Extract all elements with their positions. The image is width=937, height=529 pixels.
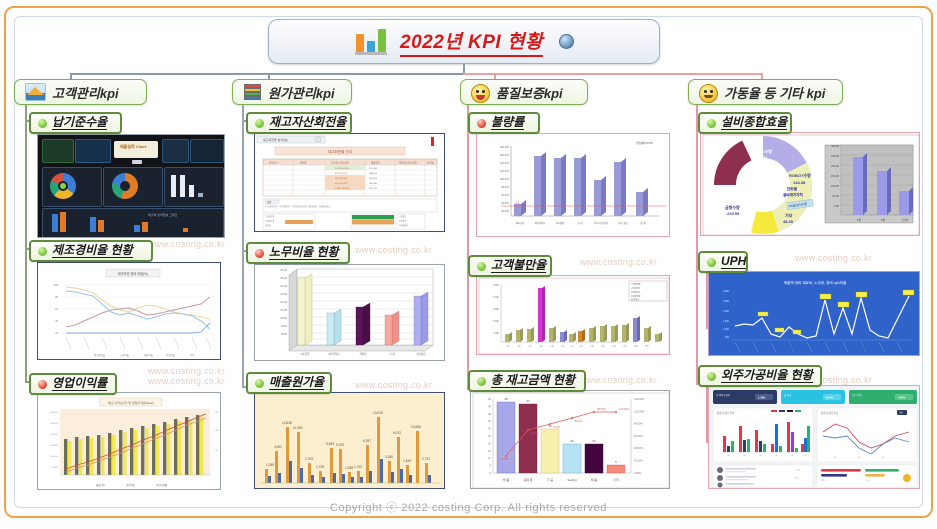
- svg-text:외주가공비 비교: 외주가공비 비교: [821, 411, 839, 415]
- svg-text:60.00%: 60.00%: [634, 434, 643, 438]
- thumbnail-cogs-ratio[interactable]: 1,259 4,902 12,836 11,050 2,709 1,739 5,…: [254, 392, 445, 489]
- svg-text:기초재고자산금액: 기초재고자산금액: [331, 161, 349, 165]
- watermark: www.costing.co.kr: [148, 376, 225, 386]
- svg-text:매출원가: 매출원가: [371, 161, 381, 165]
- svg-text:80.00: 80.00: [281, 316, 288, 320]
- svg-text:총 외주가공비: 총 외주가공비: [716, 393, 730, 397]
- svg-text:1,000: 1,000: [493, 332, 500, 335]
- watermark: www.costing.co.kr: [148, 366, 225, 376]
- green-bullet-icon: [38, 247, 47, 256]
- watermark: www.costing.co.kr: [795, 253, 872, 263]
- node-label: 외주가공비율 현황: [721, 369, 813, 383]
- svg-text:120.00%: 120.00%: [634, 397, 645, 401]
- svg-text:원자재: 원자재: [524, 477, 533, 482]
- svg-text:100.00%: 100.00%: [634, 409, 645, 413]
- node-inventory-turnover[interactable]: 재고자산회전율: [246, 112, 352, 134]
- svg-text:0.00: 0.00: [834, 204, 840, 208]
- svg-text:전 월: 전 월: [902, 218, 908, 222]
- svg-text:20: 20: [570, 439, 574, 443]
- line-chart: 매출액 대비 재료비, 노무비, 경비 uph비율 3,0002,5002,00…: [709, 272, 920, 356]
- svg-text:3,000: 3,000: [493, 308, 500, 311]
- svg-text:2022: 2022: [881, 457, 885, 459]
- svg-text:+67%: +67%: [898, 396, 906, 400]
- svg-text:6,397: 6,397: [363, 439, 371, 443]
- svg-text:2021: 2021: [857, 457, 861, 459]
- page-title-text: 2022년 KPI 현황: [400, 27, 543, 57]
- svg-text:사내 생산: 사내 생산: [618, 221, 629, 225]
- thumbnail-labor-ratio[interactable]: 86.0085.0084.00 83.0082.0081.00 80.0079.…: [254, 264, 445, 361]
- svg-text:1차협력사: 1차협력사: [535, 221, 546, 225]
- svg-text:987,654,321: 987,654,321: [335, 173, 348, 175]
- thumbnail-defect-rate[interactable]: 불량률(PPM) 180,000160,000140,000 120,00010…: [476, 133, 670, 237]
- svg-text:265,440: 265,440: [369, 183, 378, 185]
- svg-text:150.00: 150.00: [831, 174, 839, 178]
- svg-text:1,500: 1,500: [723, 320, 730, 323]
- svg-text:144.38: 144.38: [793, 180, 806, 185]
- svg-text:250.00: 250.00: [831, 154, 839, 158]
- svg-text:4,000: 4,000: [493, 296, 500, 299]
- svg-text:100.00: 100.00: [831, 184, 839, 188]
- line-chart: 제조부문 경비 현황(%) 10080 6040 20: [38, 263, 221, 360]
- svg-text:제조부문 경비 현황(%): 제조부문 경비 현황(%): [118, 271, 148, 276]
- svg-text:48.35: 48.35: [783, 219, 794, 224]
- svg-text:1,000: 1,000: [723, 328, 730, 331]
- category-label: 원가관리kpi: [268, 83, 335, 102]
- node-operating-profit-ratio[interactable]: 영업이익률: [29, 373, 117, 395]
- svg-text:765,432,100: 765,432,100: [335, 178, 348, 180]
- svg-text:2,459: 2,459: [403, 459, 411, 463]
- svg-text:78.00: 78.00: [281, 332, 288, 336]
- node-cogs-ratio[interactable]: 매출원가율: [246, 372, 332, 394]
- svg-text:목표: 목표: [515, 201, 520, 205]
- svg-text:판관비율: 판관비율: [166, 353, 176, 357]
- svg-text:불량률(PPM): 불량률(PPM): [636, 140, 653, 145]
- svg-text:금형수량: 금형수량: [725, 204, 740, 210]
- crying-face-icon: [471, 84, 490, 100]
- green-bullet-icon: [707, 258, 716, 267]
- svg-text:영업이익률: 영업이익률: [156, 483, 168, 487]
- svg-text:86.00: 86.00: [281, 268, 288, 272]
- svg-text:외주가공협력: 외주가공협력: [594, 221, 608, 225]
- svg-text:사 내: 사 내: [577, 221, 583, 225]
- svg-text:20,000: 20,000: [501, 209, 509, 213]
- svg-text:매출 이익(손익) 및 영업이익률(Real): 매출 이익(손익) 및 영업이익률(Real): [108, 400, 154, 405]
- footer-copyright: Copyright ⓒ 2022 costing Corp. All right…: [0, 499, 937, 515]
- svg-text:2차협력: 2차협력: [556, 221, 564, 225]
- svg-text:79.00: 79.00: [281, 324, 288, 328]
- svg-text:4,902: 4,902: [274, 445, 282, 449]
- svg-text:부 품: 부 품: [503, 478, 510, 482]
- bar-chart-3d: 5,0004,0003,000 2,0001,000: [477, 276, 670, 355]
- svg-text:20.00%: 20.00%: [634, 459, 643, 463]
- svg-text:11,050: 11,050: [293, 426, 303, 430]
- svg-text:60,000: 60,000: [501, 193, 509, 197]
- node-label: 영업이익률: [52, 377, 107, 391]
- svg-text:44.2%: 44.2%: [531, 431, 539, 435]
- svg-text:전년 대비: 전년 대비: [852, 393, 861, 397]
- svg-text:월 평균: 월 평균: [784, 393, 792, 397]
- svg-text:3,280: 3,280: [385, 455, 393, 459]
- svg-text:1,250: 1,250: [758, 396, 765, 400]
- svg-text:2,732: 2,732: [422, 457, 430, 461]
- svg-text:매출이익: 매출이익: [96, 483, 105, 487]
- pareto-chart: 504540 353025 201510 50 120.00%100.00%80…: [471, 391, 670, 489]
- category-header-customer[interactable]: 고객관리kpi: [14, 79, 147, 105]
- svg-text:간 접: 간 접: [389, 352, 395, 356]
- svg-text:100,000: 100,000: [50, 456, 59, 458]
- connector-bus-right: [463, 73, 763, 75]
- svg-text:영업이익: 영업이익: [126, 483, 135, 487]
- svg-text:81.00: 81.00: [281, 308, 288, 312]
- bar-chart-icon: [354, 29, 390, 55]
- spine-utilization: [696, 105, 698, 385]
- svg-text:47: 47: [526, 399, 530, 403]
- thumbnail-oee[interactable]: PRESS수량 95.52 ROBOT수량 144.38 금형수량 229.55…: [700, 132, 920, 236]
- node-label: 납기준수율: [52, 116, 107, 130]
- svg-text:13,515: 13,515: [373, 411, 383, 415]
- svg-text:제 품: 제 품: [591, 477, 598, 482]
- svg-text:500: 500: [725, 336, 730, 339]
- green-bullet-icon: [707, 119, 716, 128]
- svg-text:제1라인: 제1라인: [516, 221, 525, 225]
- node-delivery-compliance[interactable]: 납기준수율: [29, 112, 122, 134]
- svg-text:70.0%: 70.0%: [553, 425, 561, 429]
- node-defect-rate[interactable]: 불량률: [468, 112, 540, 134]
- svg-text:Setting: Setting: [567, 478, 577, 482]
- svg-text:평균재고자산금액: 평균재고자산금액: [399, 161, 417, 165]
- svg-text:200.00: 200.00: [831, 164, 839, 168]
- svg-text:100,000: 100,000: [500, 177, 510, 181]
- category-header-quality[interactable]: 품질보증kpi: [460, 79, 588, 105]
- svg-text:100.00%: 100.00%: [619, 407, 630, 411]
- svg-text:287,005: 287,005: [369, 178, 378, 180]
- category-label: 가동율 등 기타 kpi: [724, 83, 825, 102]
- svg-text:매출액 대비 재료비, 노무비, 경비 uph비율: 매출액 대비 재료비, 노무비, 경비 uph비율: [784, 280, 847, 285]
- svg-text:품목코드: 품목코드: [269, 161, 279, 165]
- svg-text:설비대가가치: 설비대가가치: [783, 192, 803, 197]
- node-uph[interactable]: UPH: [698, 251, 748, 273]
- thumbnail-operating-profit[interactable]: 매출 이익(손익) 및 영업이익률(Real) 300,00025: [37, 392, 221, 490]
- svg-text:8,440: 8,440: [826, 396, 833, 400]
- svg-text:85.00: 85.00: [281, 276, 288, 280]
- node-mfg-expense-ratio[interactable]: 제조경비율 현황: [29, 240, 153, 262]
- green-bullet-icon: [38, 119, 47, 128]
- svg-text:기 타: 기 타: [613, 477, 620, 482]
- svg-text:1,234,567,890: 1,234,567,890: [335, 168, 350, 170]
- svg-text:200,000: 200,000: [50, 434, 59, 436]
- svg-text:27.40%: 27.40%: [500, 457, 509, 461]
- svg-text:5,000: 5,000: [493, 284, 500, 287]
- svg-text:10,666: 10,666: [411, 425, 421, 429]
- green-bullet-icon: [477, 262, 486, 271]
- svg-text:PRESS수량: PRESS수량: [751, 148, 772, 154]
- green-bullet-icon: [255, 379, 264, 388]
- bar-chart-3d: 86.0085.0084.00 83.0082.0081.00 80.0079.…: [255, 265, 445, 361]
- svg-text:전사평균: 전사평균: [416, 352, 426, 356]
- books-icon: [243, 84, 262, 100]
- svg-text:80,000: 80,000: [501, 185, 509, 189]
- svg-text:기타: 기타: [785, 212, 793, 218]
- svg-text:84.2%: 84.2%: [575, 419, 583, 423]
- svg-text:20: 20: [592, 439, 596, 443]
- category-header-utilization[interactable]: 가동율 등 기타 kpi: [688, 79, 843, 105]
- svg-text:합 계: 합 계: [640, 221, 646, 225]
- node-label: 재고자산회전율: [269, 116, 346, 130]
- watermark: www.costing.co.kr: [355, 245, 432, 255]
- svg-text:40,000: 40,000: [501, 201, 509, 205]
- watermark: www.costing.co.kr: [580, 375, 657, 385]
- spreadsheet: 재고회전율 분석(월) 재고회전율 관리 품목코드품목명기초재고자산금액 매출원…: [255, 134, 445, 232]
- spine-customer: [25, 105, 27, 382]
- svg-text:12,836: 12,836: [282, 421, 292, 425]
- svg-text:제조경비율: 제조경비율: [94, 353, 106, 357]
- svg-text:9,072: 9,072: [393, 431, 401, 435]
- svg-text:229.55: 229.55: [727, 211, 740, 216]
- svg-text:300,000: 300,000: [50, 412, 59, 414]
- svg-text:외주가공비 추이: 외주가공비 추이: [717, 411, 735, 415]
- svg-text:재고회전율 분석(월): 재고회전율 분석(월): [263, 137, 288, 142]
- watermark: www.costing.co.kr: [355, 380, 432, 390]
- node-label: 고객불만율: [491, 259, 546, 273]
- svg-text:80.00%: 80.00%: [634, 422, 643, 426]
- node-label: 제조경비율 현황: [52, 244, 133, 258]
- svg-text:140,000: 140,000: [500, 161, 510, 165]
- bar-chart: 매출 이익(손익) 및 영업이익률(Real) 300,00025: [38, 393, 221, 490]
- svg-text:1,200: 1,200: [795, 470, 801, 472]
- bar-chart: 1,259 4,902 12,836 11,050 2,709 1,739 5,…: [255, 393, 445, 489]
- svg-text:82.00: 82.00: [281, 300, 288, 304]
- svg-text:160,000: 160,000: [500, 153, 510, 157]
- category-label: 고객관리kpi: [52, 83, 119, 102]
- node-label: UPH: [721, 255, 746, 269]
- watermark: www.costing.co.kr: [148, 239, 225, 249]
- svg-text:5,789: 5,789: [336, 443, 344, 447]
- svg-text:재료비율: 재료비율: [144, 353, 154, 357]
- svg-text:2,709: 2,709: [305, 457, 313, 461]
- thumbnail-outsourcing-dashboard[interactable]: 총 외주가공비월 평균전년 대비 1,2508,440+67% 외주가공비 추이: [708, 385, 920, 489]
- spine-cost: [242, 105, 244, 387]
- node-label: 노무비율 현황: [269, 246, 339, 260]
- red-bullet-icon: [255, 249, 264, 258]
- svg-text:2020: 2020: [833, 457, 837, 459]
- svg-text:1,259: 1,259: [266, 463, 274, 467]
- svg-text:40.00%: 40.00%: [634, 446, 643, 450]
- svg-text:5,953: 5,953: [326, 442, 334, 446]
- svg-text:50.00: 50.00: [833, 194, 840, 198]
- node-label: 총 재고금액 현황: [491, 374, 575, 388]
- svg-text:2차협력사: 2차협력사: [329, 352, 341, 356]
- svg-text:48: 48: [504, 397, 508, 401]
- area-chart-icon: [25, 83, 46, 101]
- admin-dashboard: 총 외주가공비월 평균전년 대비 1,2508,440+67% 외주가공비 추이: [709, 386, 920, 489]
- node-customer-complaint[interactable]: 고객불만율: [468, 255, 552, 277]
- svg-text:회전율: 회전율: [427, 161, 434, 165]
- svg-text:654,321,000: 654,321,000: [335, 183, 348, 185]
- svg-text:1,702: 1,702: [354, 465, 362, 469]
- svg-text:2,500: 2,500: [723, 300, 730, 303]
- smiley-face-icon: [699, 84, 718, 100]
- svg-text:0.00%: 0.00%: [634, 471, 642, 475]
- svg-text:ROBOT수량: ROBOT수량: [789, 172, 811, 178]
- svg-text:직접비: 직접비: [359, 352, 367, 356]
- thumbnail-customer-complaint[interactable]: 5,0004,0003,000 2,0001,000: [476, 275, 670, 355]
- svg-text:83.00: 83.00: [281, 292, 288, 296]
- svg-text:120,000: 120,000: [500, 169, 510, 173]
- svg-text:298,120: 298,120: [369, 173, 378, 175]
- svg-text:98.50%: 98.50%: [597, 407, 606, 411]
- node-labor-ratio[interactable]: 노무비율 현황: [246, 242, 350, 264]
- svg-text:150,000: 150,000: [50, 445, 59, 447]
- node-label: 설비종합효율: [721, 116, 787, 130]
- thumbnail-inventory-pareto[interactable]: 504540 353025 201510 50 120.00%100.00%80…: [470, 390, 670, 489]
- node-outsourcing-ratio[interactable]: 외주가공비율 현황: [698, 365, 822, 387]
- red-bullet-icon: [477, 119, 486, 128]
- svg-text:95.52: 95.52: [757, 155, 768, 160]
- green-bullet-icon: [255, 119, 264, 128]
- donut-and-bar: PRESS수량 95.52 ROBOT수량 144.38 금형수량 229.55…: [701, 133, 920, 236]
- svg-text:100: 100: [54, 283, 59, 287]
- svg-text:233,710: 233,710: [369, 188, 378, 190]
- node-oee[interactable]: 설비종합효율: [698, 112, 792, 134]
- svg-text:1,098,765,432: 1,098,765,432: [335, 188, 350, 190]
- category-header-cost[interactable]: 원가관리kpi: [232, 79, 352, 105]
- svg-text:2,000: 2,000: [493, 320, 500, 323]
- svg-text:250,000: 250,000: [50, 423, 59, 425]
- blue-sphere-icon: [559, 34, 574, 49]
- page-title: 2022년 KPI 현황: [268, 19, 660, 64]
- svg-text:노무비율: 노무비율: [120, 353, 130, 357]
- svg-text:50,000: 50,000: [51, 467, 58, 469]
- svg-text:300.00: 300.00: [831, 144, 839, 148]
- svg-text:2월: 2월: [881, 218, 886, 222]
- spine-quality: [467, 105, 469, 390]
- svg-text:321,456: 321,456: [369, 168, 378, 170]
- thumbnail-inventory-sheet[interactable]: 재고회전율 분석(월) 재고회전율 관리 품목코드품목명기초재고자산금액 매출원…: [254, 133, 445, 232]
- svg-text:1,739: 1,739: [316, 465, 324, 469]
- bar-chart-3d: 불량률(PPM) 180,000160,000140,000 120,00010…: [477, 134, 670, 237]
- svg-text:3,000: 3,000: [723, 290, 730, 293]
- watermark: www.costing.co.kr: [580, 257, 657, 267]
- svg-text:2,000: 2,000: [723, 310, 730, 313]
- svg-text:84.00: 84.00: [281, 284, 288, 288]
- svg-text:가 공: 가 공: [547, 477, 554, 482]
- category-label: 품질보증kpi: [496, 83, 563, 102]
- thumbnail-delivery-dashboard[interactable]: 매출실적 Chart 매출액 실적현황 그래프: [37, 134, 225, 238]
- thumbnail-mfg-expense-line[interactable]: 제조부문 경비 현황(%) 10080 6040 20: [37, 262, 221, 360]
- svg-text:재고회전율 관리: 재고회전율 관리: [328, 149, 352, 154]
- node-label: 불량률: [491, 116, 524, 130]
- svg-text:1차협력: 1차협력: [301, 352, 310, 356]
- svg-text:1,538: 1,538: [345, 466, 353, 470]
- svg-text:1월: 1월: [857, 218, 862, 222]
- thumbnail-uph[interactable]: 매출액 대비 재료비, 노무비, 경비 uph비율 3,0002,5002,00…: [708, 271, 920, 356]
- green-bullet-icon: [477, 377, 486, 386]
- svg-text:품목명: 품목명: [300, 161, 307, 165]
- red-bullet-icon: [38, 380, 47, 389]
- svg-text:단위별: 단위별: [787, 186, 798, 191]
- node-total-inventory-amount[interactable]: 총 재고금액 현황: [468, 370, 586, 392]
- green-bullet-icon: [707, 372, 716, 381]
- svg-text:180,000: 180,000: [500, 145, 510, 149]
- node-label: 매출원가율: [269, 376, 324, 390]
